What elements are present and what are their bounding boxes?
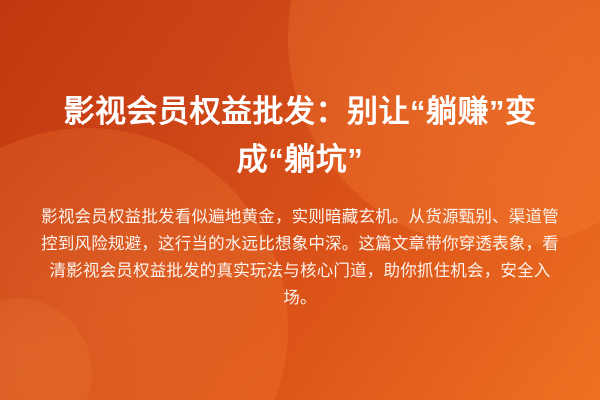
promo-banner: 影视会员权益批发：别让“躺赚”变成“躺坑” 影视会员权益批发看似遍地黄金，实则暗…	[0, 0, 600, 400]
banner-content: 影视会员权益批发：别让“躺赚”变成“躺坑” 影视会员权益批发看似遍地黄金，实则暗…	[0, 0, 600, 400]
banner-description: 影视会员权益批发看似遍地黄金，实则暗藏玄机。从货源甄别、渠道管控到风险规避，这行…	[40, 204, 560, 312]
banner-headline: 影视会员权益批发：别让“躺赚”变成“躺坑”	[40, 88, 560, 184]
